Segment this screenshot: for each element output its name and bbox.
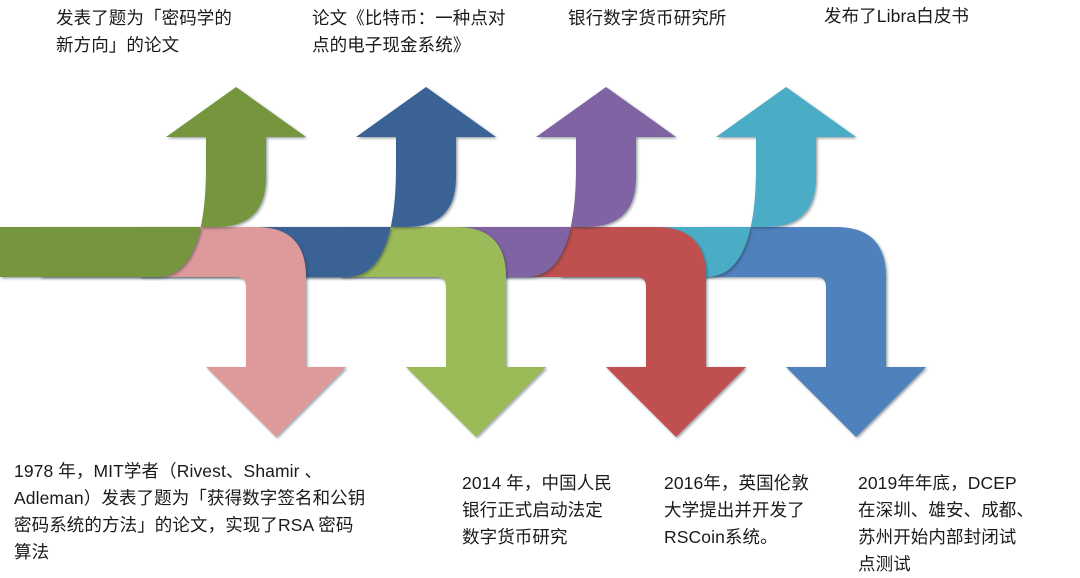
timeline-note-top-3: 2014 年，中国人民银行成立 银行数字货币研究所 — [568, 0, 818, 32]
diagram-canvas: 1976 年，迪菲和赫尔曼 发表了题为「密码学的 新方向」的论文 2008 年，… — [0, 0, 1080, 578]
timeline-note-top-4: 2019年6月， Facebook 发布了Libra白皮书 — [824, 0, 1074, 30]
timeline-note-bottom-3: 2016年，英国伦敦 大学提出并开发了 RSCoin系统。 — [664, 470, 856, 551]
timeline-note-bottom-2: 2014 年，中国人民 银行正式启动法定 数字货币研究 — [462, 470, 658, 551]
timeline-note-bottom-4: 2019年年底，DCEP 在深圳、雄安、成都、 苏州开始内部封闭试 点测试 — [858, 470, 1074, 578]
timeline-note-top-2: 2008 年，中本聪发表了 论文《比特币：一种点对 点的电子现金系统》 — [312, 0, 562, 59]
timeline-note-bottom-1: 1978 年，MIT学者（Rivest、Shamir 、 Adleman）发表了… — [14, 458, 454, 566]
timeline-note-top-1: 1976 年，迪菲和赫尔曼 发表了题为「密码学的 新方向」的论文 — [56, 0, 306, 59]
